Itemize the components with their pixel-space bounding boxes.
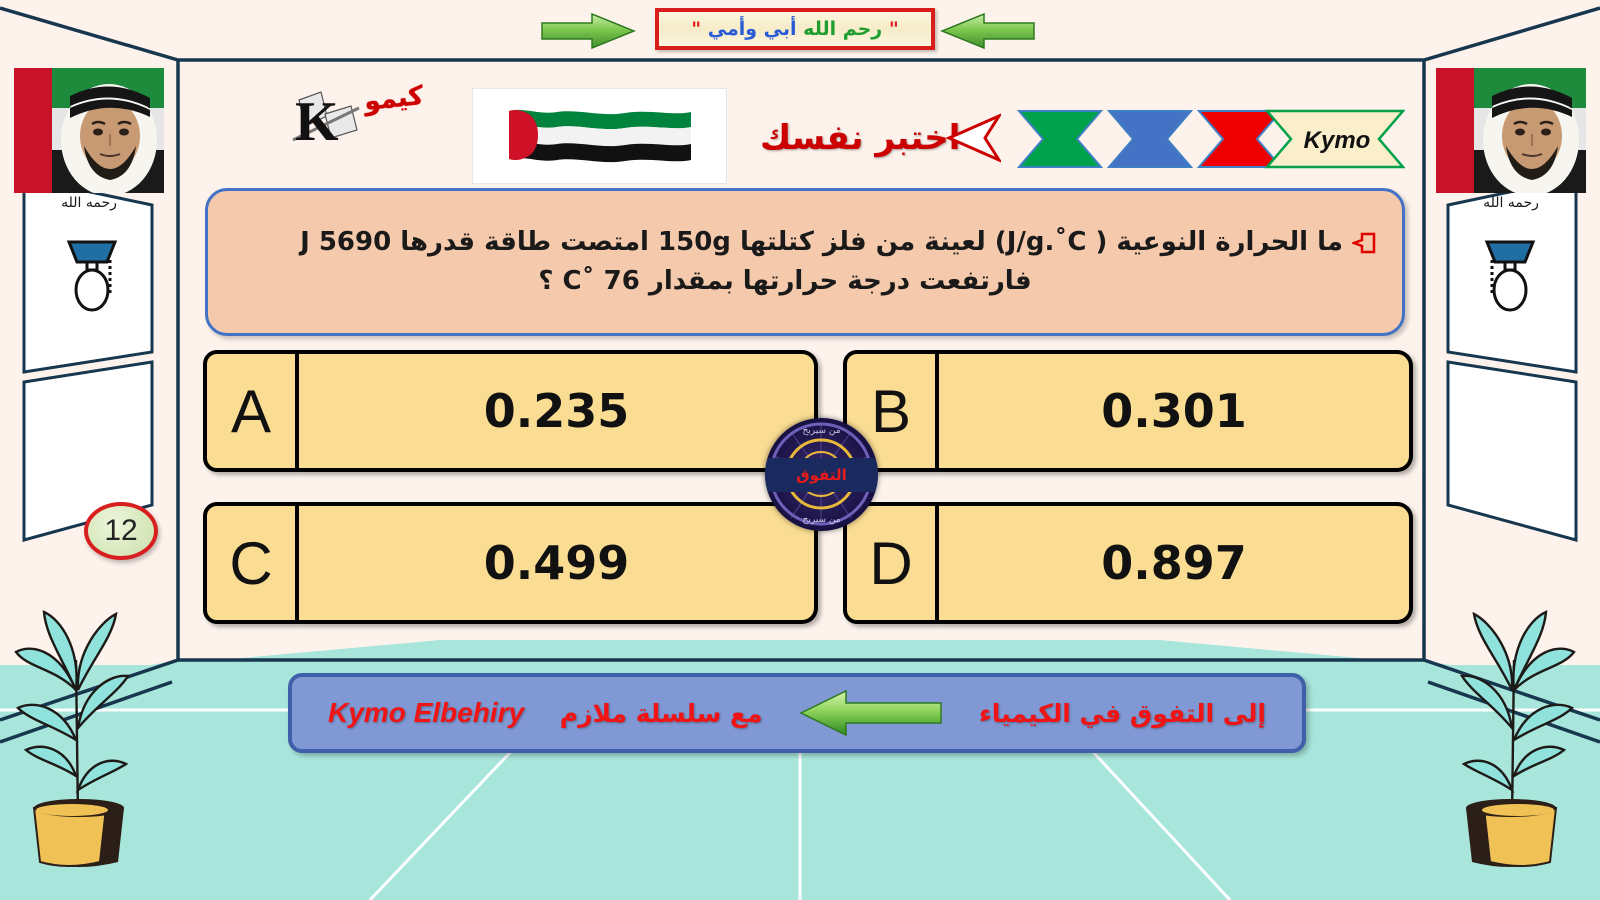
slide-canvas: " رحم الله أبي وأمي " K كيمو اختبر نفسك <box>0 0 1600 900</box>
answer-value-a: 0.235 <box>299 350 818 472</box>
question-line-2: فارتفعت درجة حرارتها بمقدار 76 ˚C ؟ <box>234 262 1376 301</box>
sheikh-zayed-portrait-icon <box>14 68 164 193</box>
question-box: ما الحرارة النوعية ( J/g.˚C) لعينة من فل… <box>205 188 1405 336</box>
sheikh-zayed-portrait-icon <box>1436 68 1586 193</box>
portrait-caption-left: رحمه الله <box>14 195 164 211</box>
badge-label: التفوق <box>796 466 847 484</box>
potted-plant <box>0 540 160 870</box>
memorial-blue-text: أبي وأمي <box>708 18 797 40</box>
question-line-1: ما الحرارة النوعية ( J/g.˚C) لعينة من فل… <box>234 223 1376 262</box>
potted-plant <box>1430 540 1590 870</box>
lamp-icon <box>63 238 121 316</box>
memorial-banner: " رحم الله أبي وأمي " <box>655 8 935 50</box>
chevron-strip: Kymo <box>1005 108 1405 170</box>
answer-option-a[interactable]: A 0.235 <box>203 350 818 472</box>
answer-option-c[interactable]: C 0.499 <box>203 502 818 624</box>
footer-banner: إلى التفوق في الكيمياء مع سلسلة ملازم Ky… <box>288 673 1306 753</box>
question-text-1: ما الحرارة النوعية ( J/g.˚C) لعينة من فل… <box>300 227 1343 257</box>
question-pointer-icon <box>1352 232 1376 254</box>
quote-open: " <box>889 18 899 40</box>
portrait-left: رحمه الله <box>14 68 164 193</box>
portrait-right: رحمه الله <box>1436 68 1586 193</box>
quote-close: " <box>691 18 701 40</box>
chevron-blue <box>1109 111 1191 167</box>
badge-bottom-text: من سيربح <box>765 515 878 525</box>
arrow-right-icon <box>540 12 636 50</box>
millionaire-logo-badge: من سيربح من سيربح التفوق <box>765 418 878 531</box>
chevron-red <box>1199 111 1281 167</box>
logo-letter: K <box>295 94 339 150</box>
arrow-left-icon <box>940 12 1036 50</box>
footer-text-right: إلى التفوق في الكيمياء <box>979 699 1266 728</box>
uae-flag-icon <box>505 105 695 167</box>
lamp-icon <box>1481 238 1539 316</box>
uae-flag-container <box>472 88 727 184</box>
badge-label-bar: التفوق <box>765 458 878 492</box>
chevron-green <box>1019 111 1101 167</box>
answer-letter-a: A <box>203 350 299 472</box>
chevron-kymo-label: Kymo <box>1304 127 1371 154</box>
footer-text-middle: مع سلسلة ملازم <box>560 699 763 728</box>
answer-letter-c: C <box>203 502 299 624</box>
footer-brand: Kymo Elbehiry <box>328 697 524 729</box>
title-arrow-icon <box>945 112 1001 164</box>
portrait-caption-right: رحمه الله <box>1436 195 1586 211</box>
answer-value-c: 0.499 <box>299 502 818 624</box>
answer-option-b[interactable]: B 0.301 <box>843 350 1413 472</box>
answer-value-d: 0.897 <box>939 502 1413 624</box>
logo-arabic-script: كيمو <box>362 81 424 117</box>
footer-arrow-left-icon <box>798 688 943 738</box>
kymo-logo: K كيمو <box>285 82 425 152</box>
badge-top-text: من سيربح <box>765 426 878 436</box>
memorial-green-text: رحم الله <box>803 18 882 40</box>
answer-option-d[interactable]: D 0.897 <box>843 502 1413 624</box>
answer-value-b: 0.301 <box>939 350 1413 472</box>
